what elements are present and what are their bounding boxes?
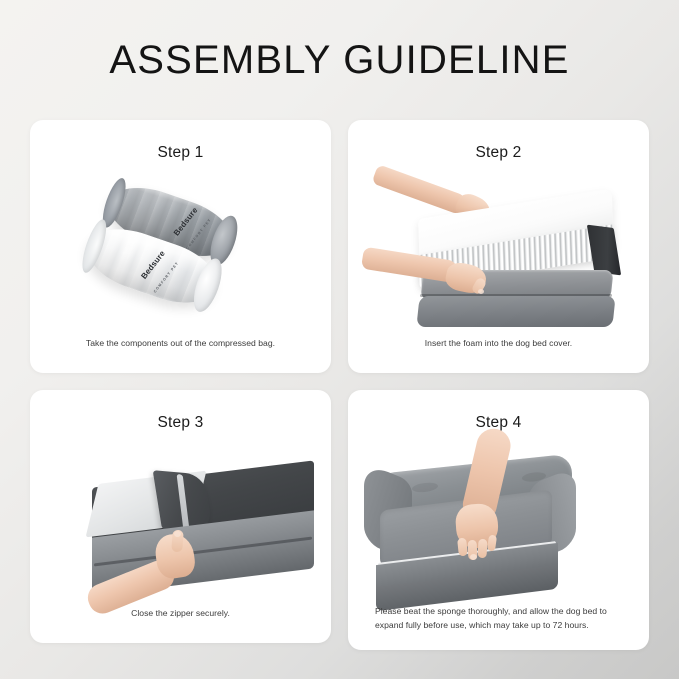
cover-dark-opening [587, 225, 621, 276]
page-title: ASSEMBLY GUIDELINE [0, 38, 679, 83]
step-card-4: Step 4 Please beat the sponge thoroughly… [348, 390, 649, 650]
patting-finger-3 [478, 539, 488, 558]
roll-grey-brand-text: Bedsure [172, 206, 200, 238]
step-2-illustration [348, 168, 649, 338]
step-1-heading: Step 1 [30, 144, 331, 162]
step-1-illustration: Bedsure COMFORT PET Bedsure COMFORT PET [30, 168, 331, 338]
step-4-illustration [348, 442, 649, 610]
bolster-tuft [412, 482, 438, 494]
roll-white-right-cap [188, 255, 227, 315]
lower-fingernail [478, 289, 484, 294]
assembly-guideline-page: ASSEMBLY GUIDELINE Step 1 Bedsure COMFOR… [0, 0, 679, 679]
patting-fingernail [470, 554, 477, 560]
step-card-3: Step 3 Close the zipper securely. [30, 390, 331, 643]
step-card-2: Step 2 Insert the foam into the dog bed … [348, 120, 649, 373]
step-3-illustration [30, 438, 331, 608]
step-2-caption: Insert the foam into the dog bed cover. [348, 337, 649, 351]
step-1-caption: Take the components out of the compresse… [30, 337, 331, 351]
upper-arm [371, 164, 468, 216]
bed-cover-base [416, 296, 615, 327]
roll-white-left-cap [78, 217, 111, 275]
step-3-caption: Close the zipper securely. [30, 607, 331, 621]
patting-finger-1 [457, 538, 468, 557]
step-card-1: Step 1 Bedsure COMFORT PET Bedsure COMFO… [30, 120, 331, 373]
step-2-heading: Step 2 [348, 144, 649, 162]
step-4-caption: Please beat the sponge thoroughly, and a… [348, 605, 649, 633]
zipper-fingernail [174, 531, 181, 537]
roll-white-brand-text: Bedsure [139, 249, 167, 281]
step-3-heading: Step 3 [30, 414, 331, 432]
